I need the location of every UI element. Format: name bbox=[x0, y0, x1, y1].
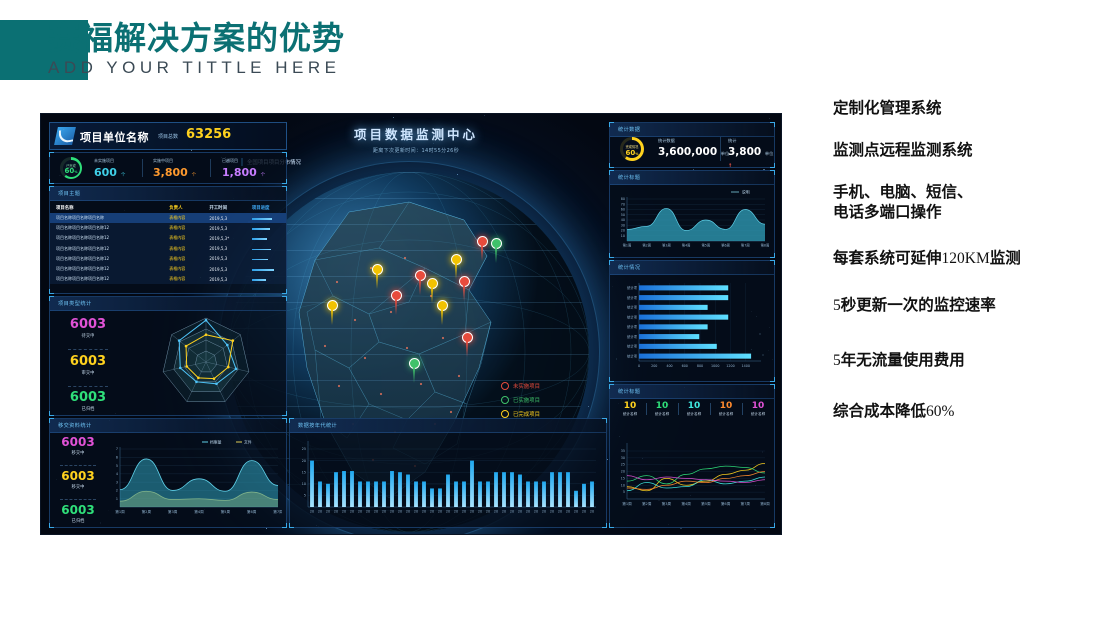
svg-text:20: 20 bbox=[414, 510, 418, 514]
svg-text:统计项: 统计项 bbox=[627, 314, 638, 319]
stat-label: 移交中 bbox=[52, 484, 104, 490]
era-statistics-panel: 数据按年代统计 51015202520202020202020202020202… bbox=[289, 418, 607, 528]
progress-bar bbox=[252, 279, 266, 281]
kpi-value: 600 个 bbox=[94, 166, 125, 179]
svg-text:第8周: 第8周 bbox=[761, 243, 770, 248]
panel-title: 统计情况 bbox=[618, 264, 640, 271]
svg-text:第3周: 第3周 bbox=[662, 243, 671, 248]
progress-bar bbox=[252, 218, 273, 220]
col-owner: 负责人 bbox=[163, 203, 203, 213]
svg-text:25: 25 bbox=[621, 463, 625, 467]
bullet-text: 监测点远程监测系统 bbox=[833, 141, 973, 159]
svg-text:20: 20 bbox=[510, 510, 514, 514]
svg-text:20: 20 bbox=[438, 510, 442, 514]
svg-text:20: 20 bbox=[462, 510, 466, 514]
svg-text:20: 20 bbox=[398, 510, 402, 514]
bullet-text-line2: 电话多端口操作 bbox=[833, 202, 1091, 222]
cell-progress bbox=[246, 274, 286, 284]
dashboard-countdown: 距离下次更新时间：14时55分26秒 bbox=[286, 147, 546, 154]
svg-text:20: 20 bbox=[382, 510, 386, 514]
cell-project-name: 项目名称项目名称项目名称12 bbox=[50, 274, 163, 284]
svg-text:20: 20 bbox=[534, 510, 538, 514]
cell-progress bbox=[246, 244, 286, 254]
svg-text:5: 5 bbox=[623, 490, 625, 494]
svg-text:0: 0 bbox=[638, 364, 640, 368]
svg-text:第2周: 第2周 bbox=[642, 243, 651, 248]
company-logo-icon bbox=[54, 127, 76, 145]
slide-header: 赛福解决方案的优势 ADD YOUR TITTLE HERE bbox=[0, 0, 1100, 100]
bullet-metric: 120KM bbox=[942, 250, 990, 267]
svg-text:40: 40 bbox=[621, 218, 625, 222]
panel-header: 统计标题 bbox=[610, 171, 774, 185]
kpi-label: 实施中项目 bbox=[153, 158, 196, 164]
svg-text:1200: 1200 bbox=[726, 364, 734, 368]
svg-text:20: 20 bbox=[366, 510, 370, 514]
svg-text:统计项: 统计项 bbox=[627, 344, 638, 349]
right-area-chart: 1020304050607080第1周第2周第3周第4周第5周第6周第7周第8周… bbox=[613, 187, 771, 255]
svg-text:1: 1 bbox=[116, 497, 118, 501]
transfer-materials-panel: 移交资料统计 6003 移交中 6003 移交中 6003 已归档 123456… bbox=[49, 418, 287, 528]
svg-text:35: 35 bbox=[621, 449, 625, 453]
svg-text:第5周: 第5周 bbox=[701, 501, 711, 506]
total-projects-value: 63256 bbox=[186, 127, 231, 142]
cell-progress bbox=[246, 264, 286, 274]
page-title: 赛福解决方案的优势 bbox=[48, 20, 345, 56]
kpi-label: 未实施项目 bbox=[94, 158, 125, 164]
table-row[interactable]: 项目名称项目名称项目名称12表格内容2019,5,3 bbox=[50, 244, 286, 254]
svg-text:20: 20 bbox=[446, 510, 450, 514]
svg-text:第2周: 第2周 bbox=[642, 501, 652, 506]
ring-value: 60% bbox=[60, 167, 82, 175]
list-item: 每套系统可延伸120KM监测 bbox=[833, 248, 1091, 269]
list-item: 综合成本降低60% bbox=[833, 401, 1091, 422]
cell-project-name: 项目名称项目名称项目名称12 bbox=[50, 254, 163, 264]
map-pin-completed[interactable] bbox=[372, 264, 383, 275]
kpi-value: 1,800 个 bbox=[222, 166, 265, 179]
svg-text:第7周: 第7周 bbox=[741, 501, 751, 506]
kpi-completed: 已越项目 1,800 个 bbox=[222, 158, 265, 179]
transfer-area-chart: 1234567第1周第2周第3周第4周第5周第6周第7周档案量文件 bbox=[106, 435, 282, 523]
svg-text:统计项: 统计项 bbox=[627, 295, 638, 300]
map-pin-completed[interactable] bbox=[437, 300, 448, 311]
cell-date: 2019,5,3 bbox=[203, 244, 245, 254]
cell-project-name: 项目名称项目名称项目名称12 bbox=[50, 264, 163, 274]
dashboard-title: 项目数据监测中心 bbox=[286, 124, 546, 143]
benefits-list: 定制化管理系统 监测点远程监测系统 手机、电脑、短信、 电话多端口操作 每套系统… bbox=[833, 98, 1091, 444]
svg-text:400: 400 bbox=[666, 364, 672, 368]
svg-text:10: 10 bbox=[621, 234, 625, 238]
svg-text:20: 20 bbox=[326, 510, 330, 514]
svg-text:统计项: 统计项 bbox=[627, 305, 638, 310]
cell-owner: 表格内容 bbox=[163, 254, 203, 264]
kpi-value: 3,800 个 bbox=[153, 166, 196, 179]
svg-text:第4周: 第4周 bbox=[194, 509, 204, 514]
list-item: 监测点远程监测系统 bbox=[833, 140, 1091, 160]
svg-text:3: 3 bbox=[116, 480, 118, 484]
cell-progress bbox=[246, 213, 286, 223]
svg-text:5: 5 bbox=[304, 494, 306, 498]
project-table: 项目名称 负责人 开工时间 项目进度 项目名称项目名称项目名称表格内容2019,… bbox=[50, 203, 286, 284]
map-pin-not-implemented[interactable] bbox=[459, 276, 470, 287]
legend-dot-icon bbox=[501, 382, 509, 390]
bullet-metric: 5 bbox=[833, 297, 841, 314]
era-bar-chart: 5101520252020202020202020202020202020202… bbox=[294, 435, 602, 523]
stat-label: 待交申 bbox=[60, 333, 116, 339]
bullet-text: 定制化管理系统 bbox=[833, 99, 942, 117]
cell-project-name: 项目名称项目名称项目名称12 bbox=[50, 223, 163, 233]
cell-progress bbox=[246, 233, 286, 243]
kpi-label: 已越项目 bbox=[222, 158, 265, 164]
table-row[interactable]: 项目名称项目名称项目名称12表格内容2019,5,3 bbox=[50, 223, 286, 233]
panel-title: 统计标题 bbox=[618, 174, 640, 181]
radar-stat-reviewing: 6003 审交中 bbox=[60, 354, 116, 376]
dashboard-screenshot: 项目数据监测中心 距离下次更新时间：14时55分26秒 全国项目项目分布情况 未… bbox=[40, 113, 782, 535]
svg-text:70: 70 bbox=[621, 202, 625, 206]
col-date: 开工时间 bbox=[203, 203, 245, 213]
map-pin-completed[interactable] bbox=[327, 300, 338, 311]
completion-ring-gauge: 已完成 60% bbox=[60, 157, 82, 179]
area-stat-transfer2: 6003 移交中 bbox=[52, 469, 104, 490]
svg-text:20: 20 bbox=[470, 510, 474, 514]
mini-stat: 10统计名称 bbox=[742, 401, 774, 417]
bullet-metric: 60% bbox=[926, 403, 954, 420]
svg-text:20: 20 bbox=[390, 510, 394, 514]
svg-text:20: 20 bbox=[486, 510, 490, 514]
cell-date: 2019,5,3 bbox=[203, 274, 245, 284]
cell-date: 2019,5,3 bbox=[203, 264, 245, 274]
panel-title: 数据按年代统计 bbox=[298, 422, 337, 429]
panel-title: 统计标题 bbox=[618, 388, 640, 395]
stat-value: 6003 bbox=[60, 354, 116, 369]
svg-text:统计项: 统计项 bbox=[627, 324, 638, 329]
svg-text:20: 20 bbox=[558, 510, 562, 514]
stat-label: 移交中 bbox=[52, 450, 104, 456]
svg-text:600: 600 bbox=[682, 364, 688, 368]
list-item: 定制化管理系统 bbox=[833, 98, 1091, 118]
stat-label: 统计数据 bbox=[658, 138, 729, 144]
panel-header: 统计情况 bbox=[610, 261, 774, 275]
svg-text:20: 20 bbox=[582, 510, 586, 514]
svg-text:20: 20 bbox=[454, 510, 458, 514]
map-pin-not-implemented[interactable] bbox=[415, 270, 426, 281]
svg-text:档案量: 档案量 bbox=[210, 439, 222, 444]
cell-owner: 表格内容 bbox=[163, 264, 203, 274]
legend-item-implemented[interactable]: 已实施项目 bbox=[501, 396, 540, 404]
cell-owner: 表格内容 bbox=[163, 244, 203, 254]
svg-text:说明: 说明 bbox=[742, 189, 750, 194]
bullet-text: 每套系统可延伸 bbox=[833, 249, 942, 267]
svg-text:第5周: 第5周 bbox=[702, 243, 711, 248]
svg-text:200: 200 bbox=[651, 364, 657, 368]
svg-text:统计项: 统计项 bbox=[627, 285, 638, 290]
svg-text:6: 6 bbox=[116, 455, 118, 459]
stat-label: 已归档 bbox=[52, 518, 104, 524]
svg-text:统计项: 统计项 bbox=[627, 353, 638, 358]
stat-value: 3,600,000 单位 bbox=[658, 146, 729, 158]
svg-text:第6周: 第6周 bbox=[247, 509, 257, 514]
svg-text:20: 20 bbox=[358, 510, 362, 514]
mini-stat-value: 10 bbox=[678, 401, 710, 411]
panel-title: 统计数据 bbox=[618, 126, 640, 133]
col-progress: 项目进度 bbox=[246, 203, 286, 213]
panel-header: 移交资料统计 bbox=[50, 419, 286, 433]
svg-text:文件: 文件 bbox=[244, 439, 252, 444]
svg-text:第4周: 第4周 bbox=[681, 501, 691, 506]
progress-bar bbox=[252, 259, 269, 261]
svg-text:10: 10 bbox=[302, 482, 306, 486]
svg-text:20: 20 bbox=[542, 510, 546, 514]
stat-label: 统计 bbox=[728, 138, 774, 144]
svg-text:20: 20 bbox=[310, 510, 314, 514]
svg-text:20: 20 bbox=[566, 510, 570, 514]
table-header-row: 项目名称 负责人 开工时间 项目进度 bbox=[50, 203, 286, 213]
svg-text:第6周: 第6周 bbox=[721, 243, 730, 248]
stat-label: 已归档 bbox=[60, 406, 116, 412]
svg-text:20: 20 bbox=[350, 510, 354, 514]
svg-text:第1周: 第1周 bbox=[115, 509, 125, 514]
svg-text:第4周: 第4周 bbox=[682, 243, 691, 248]
cell-progress bbox=[246, 254, 286, 264]
area-stat-transfer1: 6003 移交中 bbox=[52, 435, 104, 456]
svg-text:15: 15 bbox=[302, 470, 306, 474]
panel-header: 统计标题 bbox=[610, 385, 774, 399]
svg-text:20: 20 bbox=[621, 470, 625, 474]
map-pin-implemented[interactable] bbox=[491, 238, 502, 249]
table-body: 项目名称项目名称项目名称表格内容2019,5,3项目名称项目名称项目名称12表格… bbox=[50, 213, 286, 284]
radar-stat-pending: 6003 待交申 bbox=[60, 317, 116, 339]
stat-count: 统计 3,800 单位↑ bbox=[728, 138, 774, 170]
total-projects-label: 项目总数 bbox=[158, 133, 178, 140]
dashboard-topbar: 项目单位名称 项目总数 63256 bbox=[49, 122, 287, 150]
statistics-summary-panel: 统计数据 完成情况 60% 统计数据 3,600,000 单位 统计 3,800… bbox=[609, 122, 775, 168]
svg-text:20: 20 bbox=[494, 510, 498, 514]
progress-bar bbox=[252, 238, 267, 240]
progress-bar bbox=[252, 228, 270, 230]
completion-donut-gauge: 完成情况 60% bbox=[620, 137, 644, 161]
org-name: 项目单位名称 bbox=[80, 129, 149, 145]
progress-bar bbox=[252, 269, 274, 271]
panel-header: 数据按年代统计 bbox=[290, 419, 606, 433]
stat-value: 3,800 单位↑ bbox=[728, 146, 774, 170]
svg-text:1400: 1400 bbox=[742, 364, 750, 368]
map-pin-not-implemented[interactable] bbox=[462, 332, 473, 343]
panel-header: 项目类型统计 bbox=[50, 297, 286, 311]
bullet-text: 秒更新一次的监控速率 bbox=[841, 296, 996, 314]
svg-text:20: 20 bbox=[590, 510, 594, 514]
dashboard-center-title: 项目数据监测中心 距离下次更新时间：14时55分26秒 bbox=[286, 124, 546, 154]
svg-text:80: 80 bbox=[621, 197, 625, 201]
cell-date: 2019,5,3 bbox=[203, 213, 245, 223]
svg-text:800: 800 bbox=[697, 364, 703, 368]
table-row[interactable]: 项目名称项目名称项目名称12表格内容2019,5,3* bbox=[50, 233, 286, 243]
table-row[interactable]: 项目名称项目名称项目名称12表格内容2019,5,3 bbox=[50, 274, 286, 284]
stat-value: 6003 bbox=[60, 390, 116, 405]
svg-text:第2周: 第2周 bbox=[142, 509, 152, 514]
legend-item-completed[interactable]: 已完成项目 bbox=[501, 410, 540, 418]
svg-text:第1周: 第1周 bbox=[623, 243, 632, 248]
svg-text:第5周: 第5周 bbox=[221, 509, 231, 514]
radar-stat-archived: 6003 已归档 bbox=[60, 390, 116, 412]
area-stat-archived: 6003 已归档 bbox=[52, 503, 104, 524]
svg-text:20: 20 bbox=[374, 510, 378, 514]
mini-stat-label: 统计名称 bbox=[678, 412, 710, 417]
svg-text:20: 20 bbox=[318, 510, 322, 514]
cell-owner: 表格内容 bbox=[163, 274, 203, 284]
panel-title: 项目类型统计 bbox=[58, 300, 92, 307]
panel-header: 统计数据 bbox=[610, 123, 774, 137]
mini-stat-label: 统计名称 bbox=[646, 412, 678, 417]
bullet-text: 综合成本降低 bbox=[833, 402, 926, 420]
cell-date: 2019,5,3 bbox=[203, 254, 245, 264]
stat-value: 6003 bbox=[52, 469, 104, 483]
svg-text:20: 20 bbox=[422, 510, 426, 514]
cell-owner: 表格内容 bbox=[163, 233, 203, 243]
right-line-chart: 5101520253035第1周第2周第3周第4周第5周第6周第7周第8周 bbox=[613, 435, 771, 521]
svg-text:30: 30 bbox=[621, 456, 625, 460]
legend-label: 已实施项目 bbox=[513, 396, 540, 404]
right-area-panel: 统计标题 1020304050607080第1周第2周第3周第4周第5周第6周第… bbox=[609, 170, 775, 258]
right-lines-panel: 统计标题 10统计名称10统计名称10统计名称10统计名称10统计名称 5101… bbox=[609, 384, 775, 528]
cell-date: 2019,5,3 bbox=[203, 223, 245, 233]
svg-text:20: 20 bbox=[302, 459, 306, 463]
svg-text:60: 60 bbox=[621, 208, 625, 212]
map-pin-completed[interactable] bbox=[427, 278, 438, 289]
svg-text:统计项: 统计项 bbox=[627, 334, 638, 339]
page-subtitle: ADD YOUR TITTLE HERE bbox=[48, 58, 340, 78]
bullet-text: 年无流量使用费用 bbox=[841, 351, 965, 369]
svg-text:15: 15 bbox=[621, 476, 625, 480]
svg-text:第3周: 第3周 bbox=[168, 509, 178, 514]
table-row[interactable]: 项目名称项目名称项目名称表格内容2019,5,3 bbox=[50, 213, 286, 223]
mini-stat: 10统计名称 bbox=[710, 401, 742, 417]
mini-stat-value: 10 bbox=[614, 401, 646, 411]
col-name: 项目名称 bbox=[50, 203, 163, 213]
map-pin-not-implemented[interactable] bbox=[391, 290, 402, 301]
bullet-text-tail: 监测 bbox=[990, 249, 1021, 267]
mini-stat-value: 10 bbox=[646, 401, 678, 411]
panel-header: 项目主题 bbox=[50, 187, 286, 201]
mini-stat-value: 10 bbox=[742, 401, 774, 411]
progress-bar bbox=[252, 249, 271, 251]
svg-text:20: 20 bbox=[430, 510, 434, 514]
cell-owner: 表格内容 bbox=[163, 213, 203, 223]
svg-text:20: 20 bbox=[334, 510, 338, 514]
svg-text:4: 4 bbox=[116, 472, 118, 476]
svg-text:30: 30 bbox=[621, 223, 625, 227]
mini-stat: 10统计名称 bbox=[678, 401, 710, 417]
svg-text:20: 20 bbox=[406, 510, 410, 514]
svg-text:20: 20 bbox=[342, 510, 346, 514]
cell-date: 2019,5,3* bbox=[203, 233, 245, 243]
legend-label: 已完成项目 bbox=[513, 410, 540, 418]
cell-project-name: 项目名称项目名称项目名称 bbox=[50, 213, 163, 223]
map-pin-completed[interactable] bbox=[451, 254, 462, 265]
stat-label: 审交中 bbox=[60, 370, 116, 376]
cell-progress bbox=[246, 223, 286, 233]
mini-stat-value: 10 bbox=[710, 401, 742, 411]
svg-text:20: 20 bbox=[574, 510, 578, 514]
cell-project-name: 项目名称项目名称项目名称12 bbox=[50, 244, 163, 254]
mini-stat: 10统计名称 bbox=[614, 401, 646, 417]
svg-text:20: 20 bbox=[502, 510, 506, 514]
donut-value: 60% bbox=[620, 149, 644, 157]
table-row[interactable]: 项目名称项目名称项目名称12表格内容2019,5,3 bbox=[50, 264, 286, 274]
svg-text:20: 20 bbox=[621, 229, 625, 233]
stat-value: 6003 bbox=[60, 317, 116, 332]
cell-owner: 表格内容 bbox=[163, 223, 203, 233]
radar-chart bbox=[130, 311, 282, 413]
stat-total-data: 统计数据 3,600,000 单位 bbox=[658, 138, 729, 158]
svg-text:5: 5 bbox=[116, 464, 118, 468]
svg-text:20: 20 bbox=[526, 510, 530, 514]
legend-item-not-implemented[interactable]: 未实施项目 bbox=[501, 382, 540, 390]
svg-text:第1周: 第1周 bbox=[622, 501, 632, 506]
kpi-not-implemented: 未实施项目 600 个 bbox=[94, 158, 125, 179]
svg-text:20: 20 bbox=[518, 510, 522, 514]
mini-stat-label: 统计名称 bbox=[742, 412, 774, 417]
project-table-panel: 项目主题 项目名称 负责人 开工时间 项目进度 项目名称项目名称项目名称表格内容… bbox=[49, 186, 287, 294]
kpi-panel: 已完成 60% 未实施项目 600 个 实施中项目 3,800 个 已越项目 1… bbox=[49, 152, 287, 184]
right-bars-panel: 统计情况 0200400600800100012001400统计项统计项统计项统… bbox=[609, 260, 775, 382]
svg-text:7: 7 bbox=[116, 447, 118, 451]
mini-stat-label: 统计名称 bbox=[710, 412, 742, 417]
kpi-in-progress: 实施中项目 3,800 个 bbox=[153, 158, 196, 179]
svg-text:第7周: 第7周 bbox=[273, 509, 282, 514]
table-row[interactable]: 项目名称项目名称项目名称12表格内容2019,5,3 bbox=[50, 254, 286, 264]
legend-dot-icon bbox=[501, 410, 509, 418]
svg-text:20: 20 bbox=[478, 510, 482, 514]
bullet-metric: 5 bbox=[833, 352, 841, 369]
svg-text:第7周: 第7周 bbox=[741, 243, 750, 248]
mini-stat-label: 统计名称 bbox=[614, 412, 646, 417]
mini-stat: 10统计名称 bbox=[646, 401, 678, 417]
trend-up-icon: ↑ bbox=[728, 163, 732, 169]
list-item: 手机、电脑、短信、 电话多端口操作 bbox=[833, 182, 1091, 222]
svg-text:2: 2 bbox=[116, 489, 118, 493]
bullet-text-line1: 手机、电脑、短信、 bbox=[833, 182, 1091, 202]
svg-text:第3周: 第3周 bbox=[662, 501, 672, 506]
map-pin-implemented[interactable] bbox=[409, 358, 420, 369]
svg-text:25: 25 bbox=[302, 447, 306, 451]
map-pin-not-implemented[interactable] bbox=[477, 236, 488, 247]
legend-label: 未实施项目 bbox=[513, 382, 540, 390]
cell-project-name: 项目名称项目名称项目名称12 bbox=[50, 233, 163, 243]
stat-value: 6003 bbox=[52, 503, 104, 517]
svg-text:1000: 1000 bbox=[711, 364, 719, 368]
legend-dot-icon bbox=[501, 396, 509, 404]
right-horizontal-bar-chart: 0200400600800100012001400统计项统计项统计项统计项统计项… bbox=[613, 277, 771, 379]
list-item: 5秒更新一次的监控速率 bbox=[833, 295, 1091, 316]
svg-text:50: 50 bbox=[621, 213, 625, 217]
svg-text:20: 20 bbox=[550, 510, 554, 514]
svg-text:10: 10 bbox=[621, 483, 625, 487]
panel-title: 移交资料统计 bbox=[58, 422, 92, 429]
list-item: 5年无流量使用费用 bbox=[833, 350, 1091, 371]
svg-text:第6周: 第6周 bbox=[721, 501, 731, 506]
stat-value: 6003 bbox=[52, 435, 104, 449]
svg-text:第8周: 第8周 bbox=[760, 501, 770, 506]
project-type-panel: 项目类型统计 6003 待交申 6003 审交中 6003 已归档 bbox=[49, 296, 287, 416]
panel-title: 项目主题 bbox=[58, 190, 80, 197]
